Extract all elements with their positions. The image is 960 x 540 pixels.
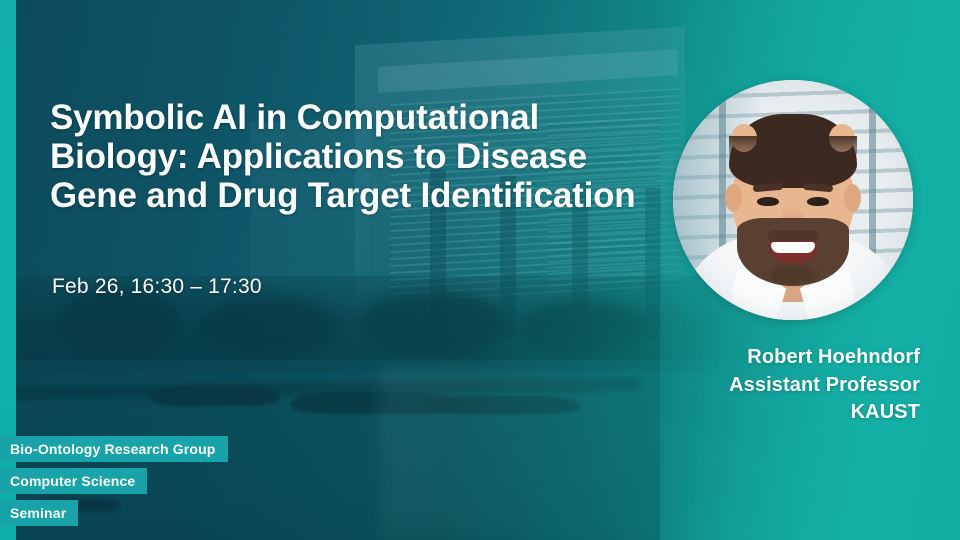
avatar [673,80,913,320]
seminar-announcement-slide: Symbolic AI in Computational Biology: Ap… [0,0,960,540]
speaker-role: Assistant Professor [729,372,920,400]
portrait-vignette [673,80,913,320]
tag-department: Computer Science [0,468,147,494]
page-title: Symbolic AI in Computational Biology: Ap… [50,98,650,216]
seminar-datetime: Feb 26, 16:30 – 17:30 [52,275,262,299]
tag-research-group: Bio-Ontology Research Group [0,436,228,462]
tag-list: Bio-Ontology Research Group Computer Sci… [0,436,228,526]
speaker-credit: Robert Hoehndorf Assistant Professor KAU… [729,344,920,427]
speaker-name: Robert Hoehndorf [729,344,920,372]
speaker-affiliation: KAUST [729,399,920,427]
tag-event-type: Seminar [0,500,78,526]
